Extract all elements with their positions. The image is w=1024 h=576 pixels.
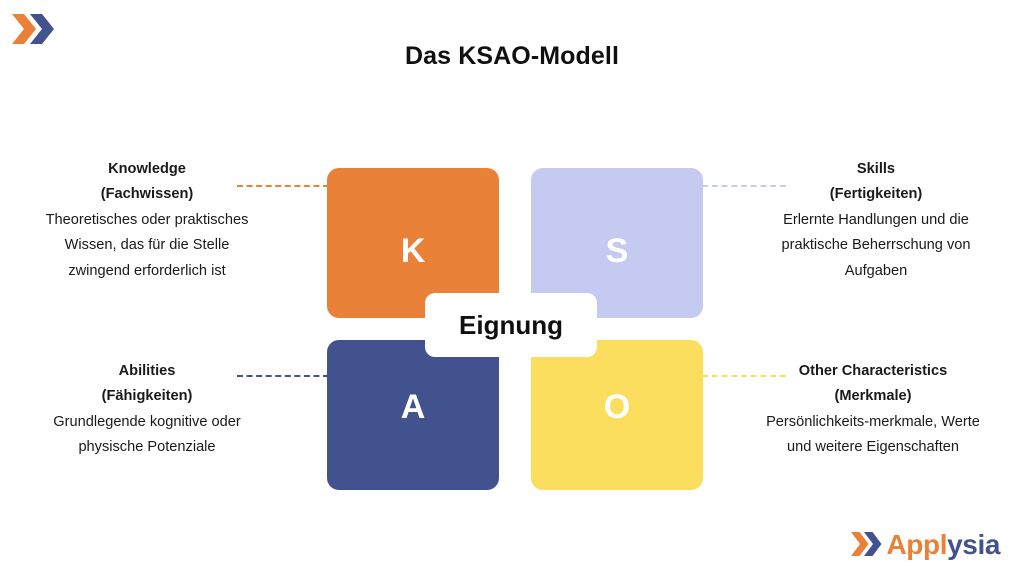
description-skills: Skills (Fertigkeiten) Erlernte Handlunge… — [772, 157, 980, 284]
footer-wordmark: Applysia — [886, 531, 1000, 559]
description-skills-body: Erlernte Handlungen und die praktische B… — [772, 208, 980, 284]
applysia-chevron-footer-icon — [850, 531, 884, 562]
footer-wordmark-part1: Appl — [886, 529, 947, 560]
description-knowledge-body: Theoretisches oder praktisches Wissen, d… — [44, 208, 250, 284]
quadrant-abilities[interactable]: A — [327, 340, 499, 490]
description-other-body: Persönlichkeits-merkmale, Werte und weit… — [766, 410, 980, 461]
connector-knowledge — [237, 185, 329, 187]
quadrant-other[interactable]: O — [531, 340, 703, 490]
description-knowledge: Knowledge (Fachwissen) Theoretisches ode… — [44, 157, 250, 284]
description-abilities-subheading: (Fähigkeiten) — [44, 384, 250, 409]
description-knowledge-subheading: (Fachwissen) — [44, 182, 250, 207]
description-other-characteristics: Other Characteristics (Merkmale) Persönl… — [766, 359, 980, 461]
page-title: Das KSAO-Modell — [0, 42, 1024, 71]
description-knowledge-heading: Knowledge — [44, 157, 250, 182]
quadrant-letter-a: A — [401, 390, 426, 424]
description-other-subheading: (Merkmale) — [766, 384, 980, 409]
description-abilities-heading: Abilities — [44, 359, 250, 384]
quadrant-letter-k: K — [401, 234, 426, 268]
description-abilities: Abilities (Fähigkeiten) Grundlegende kog… — [44, 359, 250, 461]
description-abilities-body: Grundlegende kognitive oder physische Po… — [44, 410, 250, 461]
center-label-eignung: Eignung — [425, 293, 597, 357]
description-skills-heading: Skills — [772, 157, 980, 182]
connector-abilities — [237, 375, 329, 377]
description-other-heading: Other Characteristics — [766, 359, 980, 384]
quadrant-letter-o: O — [604, 390, 630, 424]
footer-wordmark-part2: ysia — [947, 529, 1000, 560]
description-skills-subheading: (Fertigkeiten) — [772, 182, 980, 207]
quadrant-letter-s: S — [606, 234, 629, 268]
footer-brand-logo: Applysia — [850, 530, 1000, 562]
applysia-chevron-logo-icon — [10, 12, 56, 46]
